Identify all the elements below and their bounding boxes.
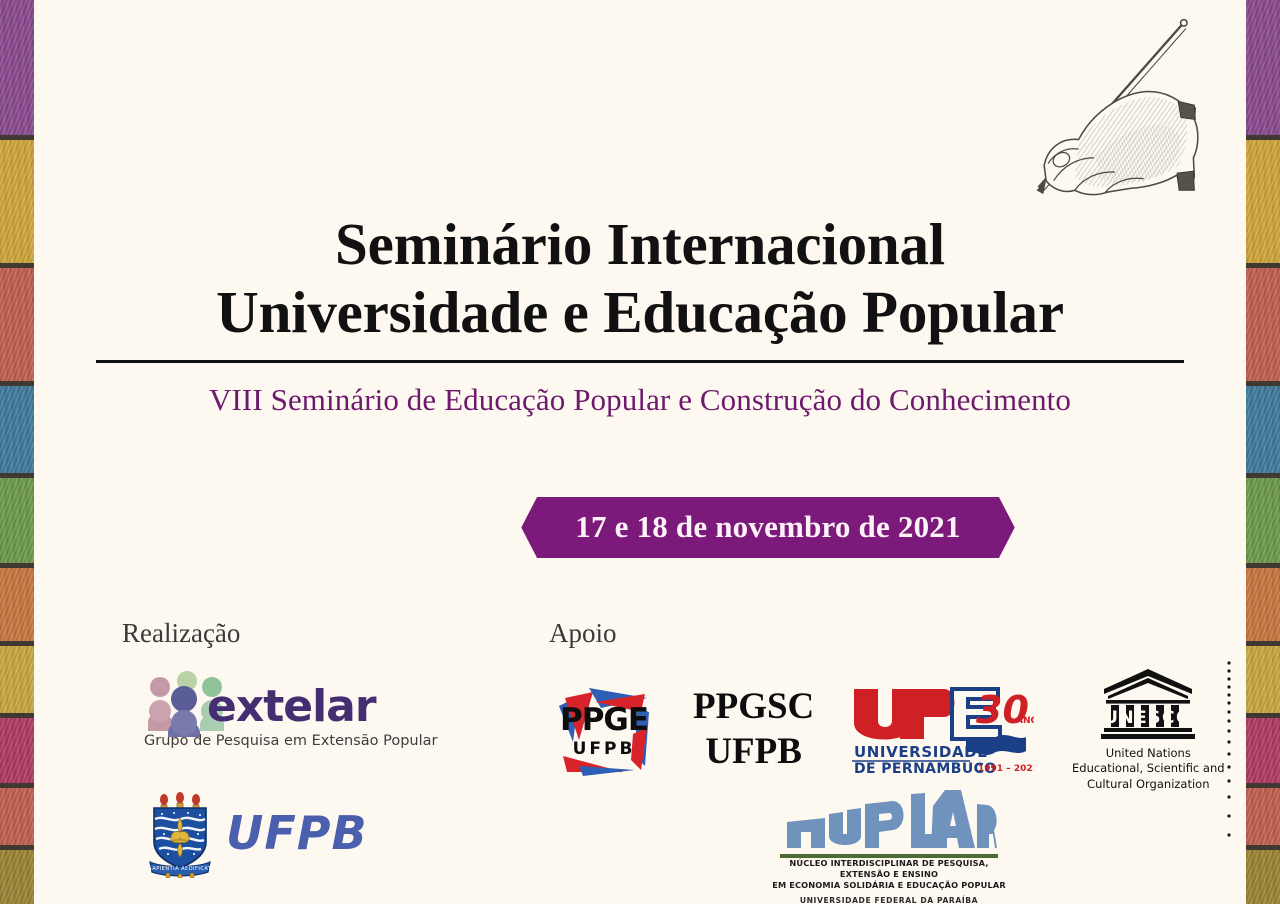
ufpb-crest-icon: SAPIENTIA AEDIFICAT <box>144 788 216 878</box>
logo-ufpb: SAPIENTIA AEDIFICAT UFPB <box>144 788 368 878</box>
poster-page: Seminário Internacional Universidade e E… <box>34 0 1246 904</box>
upe-years: 1991 – 2021 <box>978 764 1034 774</box>
book-spine <box>1246 718 1280 788</box>
poster-root: Seminário Internacional Universidade e E… <box>0 0 1280 904</box>
page-title-line-2: Universidade e Educação Popular <box>86 278 1194 346</box>
nuplar-line-2: EM ECONOMIA SOLIDÁRIA E EDUCAÇÃO POPULAR <box>764 880 1014 891</box>
logo-ppgsc-ufpb: PPGSC UFPB <box>693 684 814 774</box>
nuplar-line-1: NÚCLEO INTERDISCIPLINAR DE PESQUISA, EXT… <box>764 858 1014 880</box>
book-spine-border-right <box>1246 0 1280 904</box>
book-spine <box>1246 646 1280 718</box>
ppge-sub-wordmark: UFPB <box>549 739 659 759</box>
book-spine <box>0 850 34 904</box>
section-heading-realizacao: Realização <box>122 618 502 649</box>
book-spine <box>0 568 34 646</box>
unesco-temple-icon: UNESCO <box>1100 667 1196 741</box>
logo-ppge-ufpb: PPGE UFPB <box>549 678 659 780</box>
section-heading-apoio: Apoio <box>549 618 1186 649</box>
book-spine-border-left <box>0 0 34 904</box>
sponsor-sections: Realização <box>34 618 1246 904</box>
book-spine <box>1246 140 1280 268</box>
section-apoio: Apoio PPG <box>549 618 1186 792</box>
extelar-wordmark: extelar <box>207 681 376 732</box>
ufpb-wordmark: UFPB <box>226 806 368 860</box>
book-spine <box>0 646 34 718</box>
svg-text:SAPIENTIA AEDIFICAT: SAPIENTIA AEDIFICAT <box>149 866 212 872</box>
date-banner: 17 e 18 de novembro de 2021 <box>521 497 1014 558</box>
apoio-logo-row: PPGE UFPB PPGSC UFPB <box>549 667 1186 792</box>
ppgsc-line-1: PPGSC <box>693 684 814 729</box>
book-spine <box>1246 268 1280 386</box>
book-spine <box>0 788 34 850</box>
unesco-wordmark: UNESCO <box>1104 708 1192 728</box>
book-spine <box>1246 478 1280 568</box>
extelar-tagline: Grupo de Pesquisa em Extensão Popular <box>144 733 437 749</box>
section-realizacao: Realização <box>122 618 502 743</box>
unesco-dotted-rule <box>1224 659 1234 839</box>
nuplar-wordmark-icon <box>781 786 997 852</box>
book-spine <box>0 140 34 268</box>
upe-mark-icon: 30 ANOS UNIVERSIDADE DE PERNAMBUCO 1991 … <box>848 681 1034 777</box>
page-subtitle: VIII Seminário de Educação Popular e Con… <box>86 382 1194 418</box>
book-spine <box>0 386 34 478</box>
book-spine <box>0 478 34 568</box>
book-spine <box>1246 568 1280 646</box>
logo-extelar: extelar Grupo de Pesquisa em Extensão Po… <box>122 671 502 743</box>
ppgsc-line-2: UFPB <box>693 729 814 774</box>
upe-line-2: DE PERNAMBUCO <box>854 761 997 777</box>
book-spine <box>1246 850 1280 904</box>
book-spine <box>0 0 34 140</box>
svg-text:ANOS: ANOS <box>1016 716 1034 726</box>
logo-unesco: UNESCO United Nations Educational, Scien… <box>1068 667 1228 792</box>
title-block: Seminário Internacional Universidade e E… <box>86 210 1194 418</box>
upe-line-1: UNIVERSIDADE <box>854 743 988 761</box>
ppge-wordmark: PPGE <box>549 702 659 738</box>
title-divider <box>96 360 1184 363</box>
book-spine <box>1246 0 1280 140</box>
nuplar-line-3: UNIVERSIDADE FEDERAL DA PARAÍBA <box>764 896 1014 904</box>
logo-nuplar: NÚCLEO INTERDISCIPLINAR DE PESQUISA, EXT… <box>764 786 1014 904</box>
page-title-line-1: Seminário Internacional <box>86 210 1194 278</box>
book-spine <box>0 268 34 386</box>
date-banner-wrap: 17 e 18 de novembro de 2021 <box>34 497 1246 558</box>
logo-upe: 30 ANOS UNIVERSIDADE DE PERNAMBUCO 1991 … <box>848 681 1034 777</box>
hand-holding-pen-icon <box>1004 8 1224 208</box>
book-spine <box>1246 386 1280 478</box>
book-spine <box>1246 788 1280 850</box>
book-spine <box>0 718 34 788</box>
unesco-tagline: United Nations Educational, Scientific a… <box>1068 746 1228 792</box>
